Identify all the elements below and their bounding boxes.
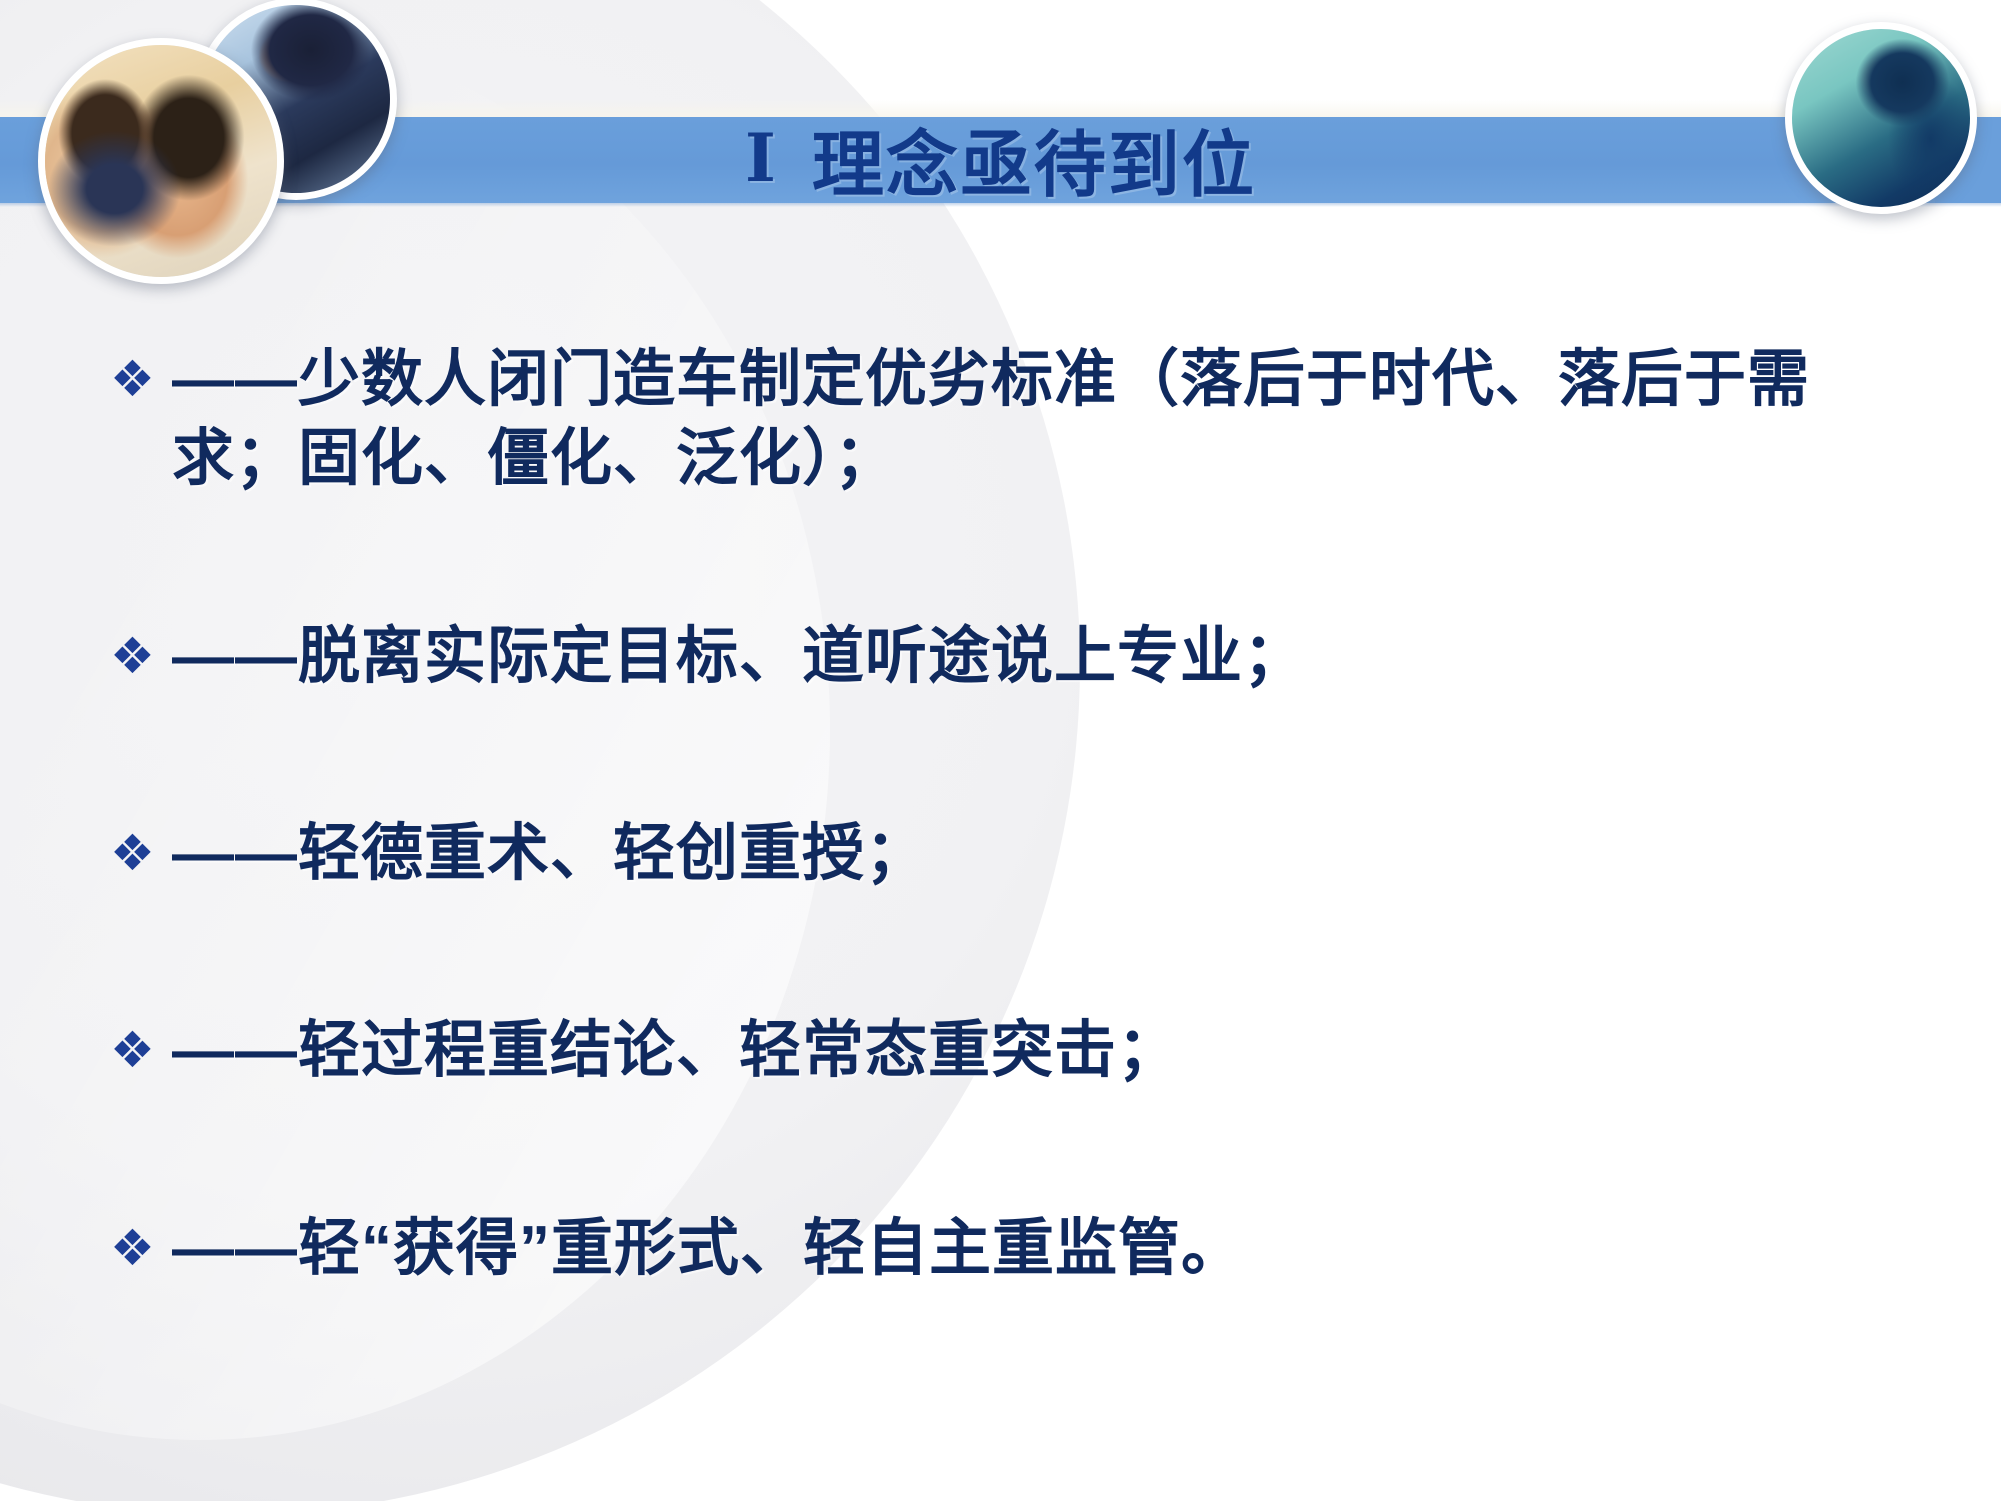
list-item: ❖ ——轻“获得”重形式、轻自主重监管。 (110, 1209, 1900, 1288)
presentation-slide: Ⅰ 理念亟待到位 ❖ ——少数人闭门造车制定优劣标准（落后于时代、落后于需求；固… (0, 0, 2001, 1501)
list-item: ❖ ——少数人闭门造车制定优劣标准（落后于时代、落后于需求；固化、僵化、泛化）； (110, 340, 1900, 499)
title-text: 理念亟待到位 (812, 106, 1256, 211)
diamond-bullet-icon: ❖ (110, 1011, 172, 1089)
list-item: ❖ ——脱离实际定目标、道听途说上专业； (110, 617, 1900, 696)
list-item-text: ——轻过程重结论、轻常态重突击； (172, 1011, 1900, 1090)
list-item: ❖ ——轻德重术、轻创重授； (110, 814, 1900, 893)
diamond-bullet-icon: ❖ (110, 814, 172, 892)
bullet-list: ❖ ——少数人闭门造车制定优劣标准（落后于时代、落后于需求；固化、僵化、泛化）；… (110, 340, 1900, 1288)
page-title: Ⅰ 理念亟待到位 (0, 104, 2001, 212)
diamond-bullet-icon: ❖ (110, 340, 172, 418)
diamond-bullet-icon: ❖ (110, 617, 172, 695)
list-item-text: ——少数人闭门造车制定优劣标准（落后于时代、落后于需求；固化、僵化、泛化）； (172, 340, 1900, 499)
list-item: ❖ ——轻过程重结论、轻常态重突击； (110, 1011, 1900, 1090)
list-item-text: ——脱离实际定目标、道听途说上专业； (172, 617, 1900, 696)
list-item-text: ——轻德重术、轻创重授； (172, 814, 1900, 893)
title-numeral: Ⅰ (745, 119, 778, 198)
diamond-bullet-icon: ❖ (110, 1209, 172, 1287)
list-item-text: ——轻“获得”重形式、轻自主重监管。 (172, 1209, 1900, 1288)
